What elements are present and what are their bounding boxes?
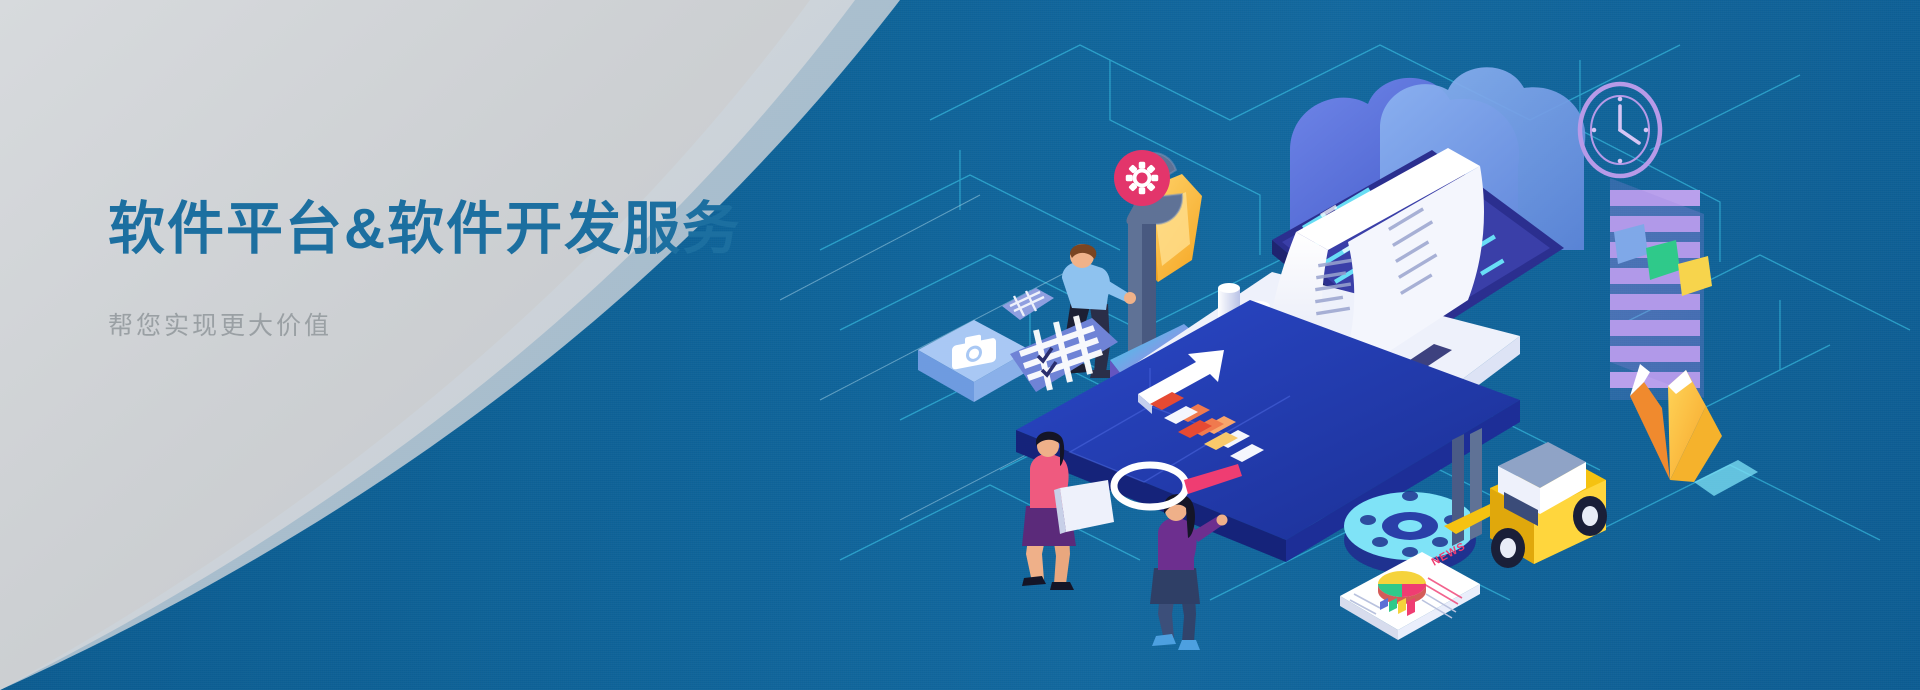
clock-icon: [1580, 84, 1660, 176]
page-title: 软件平台&软件开发服务: [108, 196, 868, 263]
analyst-figure-purple: [1150, 494, 1228, 650]
pie-chart-icon: [1378, 571, 1426, 604]
checklist-board: [1010, 316, 1118, 392]
banner-copy: 软件平台&软件开发服务 帮您实现更大价值: [108, 196, 868, 344]
solar-panel-icon: [1002, 288, 1054, 320]
gear-badge-icon: [1114, 150, 1170, 206]
striped-panel: [1610, 178, 1712, 400]
page-subtitle: 帮您实现更大价值: [108, 309, 868, 344]
curve-panel-main: [0, 0, 810, 690]
hero-banner: 软件平台&软件开发服务 帮您实现更大价值: [0, 0, 1920, 690]
isometric-illustration: NEWS: [820, 0, 1920, 690]
camera-card-icon: [918, 320, 1030, 402]
